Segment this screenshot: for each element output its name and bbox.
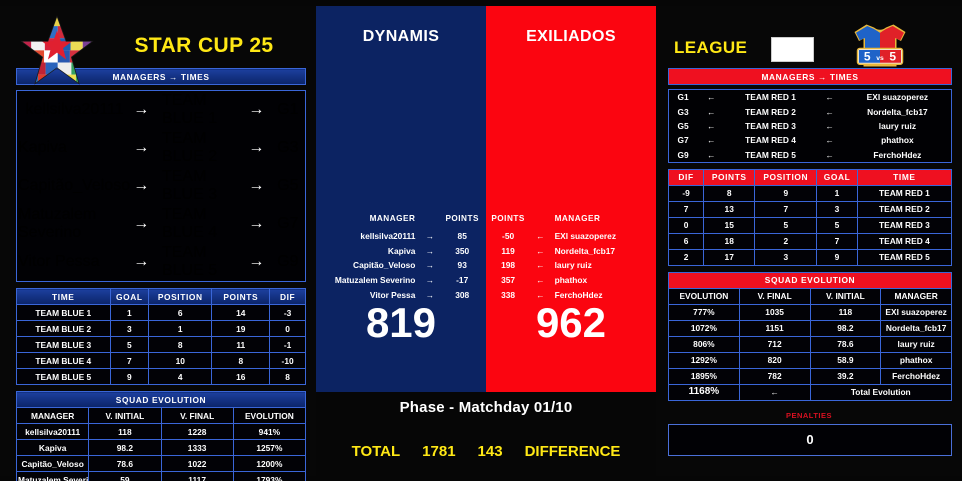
cell-position: 10 bbox=[149, 353, 212, 369]
manager-name: Capitão_Veloso bbox=[316, 258, 421, 273]
arrow-icon: ← bbox=[530, 258, 550, 273]
arrow-icon: → bbox=[132, 243, 161, 281]
table-row[interactable]: TEAM BLUE 4 7 10 8 -10 bbox=[17, 353, 306, 369]
col-v-initial: V. INITIAL bbox=[810, 288, 881, 304]
col-evolution: EVOLUTION bbox=[669, 288, 740, 304]
cell-v-final: 820 bbox=[739, 352, 810, 368]
home-team-name: DYNAMIS bbox=[316, 28, 486, 46]
arrow-icon: ← bbox=[816, 104, 844, 118]
col-time: TIME bbox=[857, 169, 951, 185]
arrow-icon: ← bbox=[816, 148, 844, 162]
cell-goal: 1 bbox=[110, 305, 149, 321]
cell-time: TEAM BLUE 1 bbox=[17, 305, 111, 321]
right-panel: LEAGUE 5 vs 5 MANAGERS → TIMES bbox=[656, 6, 962, 476]
home-points-list: MANAGER POINTS kellsilva20111 → 85 Kapiv… bbox=[316, 212, 486, 302]
arrow-icon: → bbox=[421, 258, 438, 273]
cell-position: 3 bbox=[755, 249, 817, 265]
total-value: 1781 bbox=[422, 443, 455, 460]
table-row[interactable]: 1292% 820 58.9 phathox bbox=[669, 352, 952, 368]
table-row[interactable]: G1 ← TEAM RED 1 ← EXI suazoperez bbox=[669, 90, 951, 104]
table-header-row: TIME GOAL POSITION POINTS DIF bbox=[17, 289, 306, 305]
cell-position: 2 bbox=[755, 233, 817, 249]
table-row[interactable]: Vitor Pessa → TEAM BLUE 5 → G9 bbox=[17, 243, 305, 281]
home-score: 819 bbox=[316, 302, 486, 344]
cell-evolution: 941% bbox=[233, 424, 305, 440]
arrow-icon: → bbox=[247, 167, 276, 205]
table-row[interactable]: kellsilva20111 118 1228 941% bbox=[17, 424, 306, 440]
cell-evolution: 806% bbox=[669, 336, 740, 352]
points-value: -50 bbox=[486, 228, 530, 243]
arrow-icon: → bbox=[247, 205, 276, 243]
col-points: POINTS bbox=[704, 169, 755, 185]
group-code: G5 bbox=[276, 167, 305, 205]
table-row[interactable]: Capitão_Veloso → TEAM BLUE 3 → G5 bbox=[17, 167, 305, 205]
list-item[interactable]: -50 ← EXI suazoperez bbox=[486, 228, 656, 243]
team-name: TEAM RED 2 bbox=[725, 104, 815, 118]
cell-time: TEAM BLUE 2 bbox=[17, 321, 111, 337]
cell-dif: 0 bbox=[270, 321, 306, 337]
col-points: POINTS bbox=[486, 212, 530, 228]
away-points-list: POINTS MANAGER -50 ← EXI suazoperez 119 … bbox=[486, 212, 656, 302]
points-value: 93 bbox=[438, 258, 486, 273]
cell-evolution: 1072% bbox=[669, 320, 740, 336]
cell-v-initial: 58.9 bbox=[810, 352, 881, 368]
cell-v-initial: 98.2 bbox=[810, 320, 881, 336]
manager-name: Kapiva bbox=[316, 243, 421, 258]
cell-position: 9 bbox=[755, 185, 817, 201]
total-evolution-value: 1168% bbox=[669, 384, 740, 400]
cell-position: 1 bbox=[149, 321, 212, 337]
cell-goal: 5 bbox=[110, 337, 149, 353]
team-name: TEAM BLUE 5 bbox=[161, 243, 247, 281]
table-row[interactable]: Capitão_Veloso 78.6 1022 1200% bbox=[17, 456, 306, 472]
cell-position: 6 bbox=[149, 305, 212, 321]
team-name: TEAM BLUE 2 bbox=[161, 129, 247, 167]
col-goal: GOAL bbox=[817, 169, 857, 185]
cell-time: TEAM RED 4 bbox=[857, 233, 951, 249]
team-name: TEAM BLUE 1 bbox=[161, 91, 247, 129]
cell-v-initial: 118 bbox=[810, 304, 881, 320]
away-score: 962 bbox=[486, 302, 656, 344]
table-row[interactable]: 0 15 5 5 TEAM RED 3 bbox=[669, 217, 952, 233]
right-header: LEAGUE 5 vs 5 bbox=[656, 6, 962, 68]
arrow-icon: ← bbox=[530, 273, 550, 288]
group-code: G7 bbox=[276, 205, 305, 243]
cell-position: 7 bbox=[755, 201, 817, 217]
group-code: G9 bbox=[276, 243, 305, 281]
team-name: TEAM BLUE 4 bbox=[161, 205, 247, 243]
col-v-initial: V. INITIAL bbox=[89, 408, 161, 424]
group-code: G1 bbox=[276, 91, 305, 129]
col-manager: MANAGER bbox=[551, 212, 656, 228]
col-time: TIME bbox=[17, 289, 111, 305]
right-managers-table: G1 ← TEAM RED 1 ← EXI suazoperez G3 ← TE… bbox=[668, 89, 952, 163]
list-item[interactable]: kellsilva20111 → 85 bbox=[316, 228, 486, 243]
table-row[interactable]: G9 ← TEAM RED 5 ← FerchoHdez bbox=[669, 148, 951, 162]
left-standings-table: TIME GOAL POSITION POINTS DIF TEAM BLUE … bbox=[16, 288, 306, 385]
squad-evolution-title: SQUAD EVOLUTION bbox=[669, 272, 952, 288]
group-code: G3 bbox=[669, 104, 697, 118]
manager-name: kellsilva20111 bbox=[316, 228, 421, 243]
list-item[interactable]: Capitão_Veloso → 93 bbox=[316, 258, 486, 273]
table-row[interactable]: Kapiva → TEAM BLUE 2 → G3 bbox=[17, 129, 305, 167]
list-item[interactable]: Kapiva → 350 bbox=[316, 243, 486, 258]
table-row[interactable]: Matuzalem Severino 59 1117 1793% bbox=[17, 472, 306, 481]
cell-v-initial: 118 bbox=[89, 424, 161, 440]
difference-value: 143 bbox=[478, 443, 503, 460]
cell-manager: FerchoHdez bbox=[881, 368, 952, 384]
cell-points: 15 bbox=[704, 217, 755, 233]
table-row[interactable]: G7 ← TEAM RED 4 ← phathox bbox=[669, 133, 951, 147]
cell-v-initial: 78.6 bbox=[89, 456, 161, 472]
table-row[interactable]: 2 17 3 9 TEAM RED 5 bbox=[669, 249, 952, 265]
cell-dif: 2 bbox=[669, 249, 704, 265]
cell-points: 19 bbox=[212, 321, 270, 337]
points-value: 338 bbox=[486, 288, 530, 303]
table-row[interactable]: G5 ← TEAM RED 3 ← laury ruiz bbox=[669, 119, 951, 133]
arrow-icon: → bbox=[247, 243, 276, 281]
table-header-row: MANAGER POINTS bbox=[316, 212, 486, 228]
team-name: TEAM RED 4 bbox=[725, 133, 815, 147]
scoreboard-screen: STAR CUP 25 MANAGERS → TIMES kellsilva20… bbox=[0, 0, 962, 481]
cell-manager: phathox bbox=[881, 352, 952, 368]
cell-goal: 1 bbox=[817, 185, 857, 201]
cell-v-final: 1333 bbox=[161, 440, 233, 456]
cell-v-initial: 59 bbox=[89, 472, 161, 481]
table-row[interactable]: TEAM BLUE 1 1 6 14 -3 bbox=[17, 305, 306, 321]
col-v-final: V. FINAL bbox=[739, 288, 810, 304]
manager-name: phathox bbox=[844, 133, 951, 147]
star-flags-logo-icon bbox=[18, 14, 96, 86]
cell-manager: Kapiva bbox=[17, 440, 89, 456]
arrow-icon: → bbox=[132, 129, 161, 167]
group-code: G3 bbox=[276, 129, 305, 167]
manager-name: Matuzalem Severino bbox=[17, 205, 132, 243]
table-row[interactable]: 777% 1035 118 EXI suazoperez bbox=[669, 304, 952, 320]
col-position: POSITION bbox=[755, 169, 817, 185]
cell-dif: -1 bbox=[270, 337, 306, 353]
arrow-icon: → bbox=[421, 228, 438, 243]
manager-name: laury ruiz bbox=[551, 258, 656, 273]
cell-evolution: 777% bbox=[669, 304, 740, 320]
team-name: TEAM BLUE 3 bbox=[161, 167, 247, 205]
cell-dif: 8 bbox=[270, 369, 306, 385]
cell-v-final: 1035 bbox=[739, 304, 810, 320]
arrow-icon: ← bbox=[530, 243, 550, 258]
cell-position: 4 bbox=[149, 369, 212, 385]
col-dif: DIF bbox=[669, 169, 704, 185]
cell-points: 8 bbox=[704, 185, 755, 201]
cell-evolution: 1793% bbox=[233, 472, 305, 481]
table-header-row: EVOLUTION V. FINAL V. INITIAL MANAGER bbox=[669, 288, 952, 304]
col-manager: MANAGER bbox=[881, 288, 952, 304]
table-total-row: 1168% ← Total Evolution bbox=[669, 384, 952, 400]
star-cup-title: STAR CUP 25 bbox=[106, 34, 302, 58]
group-code: G5 bbox=[669, 119, 697, 133]
arrow-icon: → bbox=[132, 91, 161, 129]
col-points: POINTS bbox=[438, 212, 486, 228]
cell-time: TEAM RED 3 bbox=[857, 217, 951, 233]
cell-manager: Nordelta_fcb17 bbox=[881, 320, 952, 336]
arrow-icon: ← bbox=[697, 90, 725, 104]
difference-label: DIFFERENCE bbox=[525, 443, 621, 460]
list-item[interactable]: Matuzalem Severino → -17 bbox=[316, 273, 486, 288]
jersey-5vs5-logo-icon: 5 vs 5 bbox=[842, 20, 918, 74]
cell-position: 8 bbox=[149, 337, 212, 353]
list-item[interactable]: 357 ← phathox bbox=[486, 273, 656, 288]
table-row[interactable]: TEAM BLUE 5 9 4 16 8 bbox=[17, 369, 306, 385]
cell-points: 16 bbox=[212, 369, 270, 385]
table-header-row: DIF POINTS POSITION GOAL TIME bbox=[669, 169, 952, 185]
cell-goal: 7 bbox=[110, 353, 149, 369]
cell-v-final: 1228 bbox=[161, 424, 233, 440]
cell-v-final: 1022 bbox=[161, 456, 233, 472]
cell-v-initial: 98.2 bbox=[89, 440, 161, 456]
table-row[interactable]: Matuzalem Severino → TEAM BLUE 4 → G7 bbox=[17, 205, 305, 243]
points-value: 350 bbox=[438, 243, 486, 258]
arrow-icon: → bbox=[421, 273, 438, 288]
cell-manager: Matuzalem Severino bbox=[17, 472, 89, 481]
manager-name: kellsilva20111 bbox=[17, 91, 132, 129]
left-header: STAR CUP 25 bbox=[0, 6, 316, 68]
cell-points: 14 bbox=[212, 305, 270, 321]
table-header-row: MANAGER V. INITIAL V. FINAL EVOLUTION bbox=[17, 408, 306, 424]
cell-time: TEAM RED 1 bbox=[857, 185, 951, 201]
phase-matchday-label: Phase - Matchday 01/10 bbox=[316, 399, 656, 416]
table-header-row: POINTS MANAGER bbox=[486, 212, 656, 228]
arrow-icon: ← bbox=[697, 133, 725, 147]
manager-name: FerchoHdez bbox=[844, 148, 951, 162]
svg-text:vs: vs bbox=[876, 55, 884, 62]
left-managers-table: kellsilva20111 → TEAM BLUE 1 → G1 Kapiva… bbox=[16, 90, 306, 282]
totals-row: TOTAL 1781 143 DIFFERENCE bbox=[316, 443, 656, 460]
cell-dif: 6 bbox=[669, 233, 704, 249]
cell-manager: kellsilva20111 bbox=[17, 424, 89, 440]
left-squad-evolution-table: SQUAD EVOLUTION MANAGER V. INITIAL V. FI… bbox=[16, 391, 306, 481]
points-value: 85 bbox=[438, 228, 486, 243]
away-team-name: EXILIADOS bbox=[486, 28, 656, 46]
manager-name: phathox bbox=[551, 273, 656, 288]
list-item[interactable]: 119 ← Nordelta_fcb17 bbox=[486, 243, 656, 258]
arrow-icon: ← bbox=[816, 90, 844, 104]
arrow-icon: ← bbox=[816, 133, 844, 147]
home-team-panel: DYNAMIS MANAGER POINTS kellsilva20111 → … bbox=[316, 6, 486, 392]
cell-dif: -10 bbox=[270, 353, 306, 369]
cell-points: 13 bbox=[704, 201, 755, 217]
group-code: G1 bbox=[669, 90, 697, 104]
right-penalties-value[interactable]: 0 bbox=[668, 424, 952, 456]
league-input[interactable] bbox=[771, 37, 814, 62]
arrow-icon: ← bbox=[530, 228, 550, 243]
col-evolution: EVOLUTION bbox=[233, 408, 305, 424]
league-title: LEAGUE bbox=[674, 38, 747, 58]
total-label: TOTAL bbox=[352, 443, 401, 460]
cell-v-final: 782 bbox=[739, 368, 810, 384]
cell-v-final: 1151 bbox=[739, 320, 810, 336]
cell-goal: 9 bbox=[817, 249, 857, 265]
cell-position: 5 bbox=[755, 217, 817, 233]
svg-text:5: 5 bbox=[889, 50, 896, 64]
col-v-final: V. FINAL bbox=[161, 408, 233, 424]
manager-name: EXI suazoperez bbox=[844, 90, 951, 104]
cell-goal: 9 bbox=[110, 369, 149, 385]
team-name: TEAM RED 1 bbox=[725, 90, 815, 104]
table-row[interactable]: Kapiva 98.2 1333 1257% bbox=[17, 440, 306, 456]
manager-name: laury ruiz bbox=[844, 119, 951, 133]
cell-points: 8 bbox=[212, 353, 270, 369]
cell-manager: laury ruiz bbox=[881, 336, 952, 352]
cell-goal: 5 bbox=[817, 217, 857, 233]
right-squad-evolution-table: SQUAD EVOLUTION EVOLUTION V. FINAL V. IN… bbox=[668, 272, 952, 401]
right-standings-table: DIF POINTS POSITION GOAL TIME -9 8 9 1 T… bbox=[668, 169, 952, 266]
table-row[interactable]: -9 8 9 1 TEAM RED 1 bbox=[669, 185, 952, 201]
cell-v-final: 712 bbox=[739, 336, 810, 352]
group-code: G9 bbox=[669, 148, 697, 162]
points-value: 357 bbox=[486, 273, 530, 288]
squad-evolution-title: SQUAD EVOLUTION bbox=[17, 392, 306, 408]
col-dif: DIF bbox=[270, 289, 306, 305]
col-goal: GOAL bbox=[110, 289, 149, 305]
team-name: TEAM RED 3 bbox=[725, 119, 815, 133]
manager-name: EXI suazoperez bbox=[551, 228, 656, 243]
left-panel: STAR CUP 25 MANAGERS → TIMES kellsilva20… bbox=[0, 6, 316, 476]
table-row[interactable]: 806% 712 78.6 laury ruiz bbox=[669, 336, 952, 352]
arrow-icon: → bbox=[421, 243, 438, 258]
table-row[interactable]: 7 13 7 3 TEAM RED 2 bbox=[669, 201, 952, 217]
away-team-panel: EXILIADOS POINTS MANAGER -50 ← EXI suazo… bbox=[486, 6, 656, 392]
table-row[interactable]: 6 18 2 7 TEAM RED 4 bbox=[669, 233, 952, 249]
table-row[interactable]: kellsilva20111 → TEAM BLUE 1 → G1 bbox=[17, 91, 305, 129]
group-code: G7 bbox=[669, 133, 697, 147]
arrow-icon: → bbox=[132, 205, 161, 243]
manager-name: Capitão_Veloso bbox=[17, 167, 132, 205]
list-item[interactable]: 198 ← laury ruiz bbox=[486, 258, 656, 273]
cell-evolution: 1200% bbox=[233, 456, 305, 472]
cell-goal: 3 bbox=[110, 321, 149, 337]
col-manager: MANAGER bbox=[316, 212, 421, 228]
cell-v-initial: 39.2 bbox=[810, 368, 881, 384]
arrow-icon: ← bbox=[697, 104, 725, 118]
cell-manager: Capitão_Veloso bbox=[17, 456, 89, 472]
cell-points: 11 bbox=[212, 337, 270, 353]
cell-time: TEAM BLUE 3 bbox=[17, 337, 111, 353]
cell-dif: -9 bbox=[669, 185, 704, 201]
col-points: POINTS bbox=[212, 289, 270, 305]
cell-v-final: 1117 bbox=[161, 472, 233, 481]
arrow-icon: → bbox=[247, 129, 276, 167]
cell-time: TEAM RED 5 bbox=[857, 249, 951, 265]
cell-evolution: 1895% bbox=[669, 368, 740, 384]
points-value: 308 bbox=[438, 288, 486, 303]
arrow-icon: ← bbox=[739, 384, 810, 400]
table-row[interactable]: 1895% 782 39.2 FerchoHdez bbox=[669, 368, 952, 384]
manager-name: Vitor Pessa bbox=[17, 243, 132, 281]
table-row[interactable]: 1072% 1151 98.2 Nordelta_fcb17 bbox=[669, 320, 952, 336]
cell-manager: EXI suazoperez bbox=[881, 304, 952, 320]
table-row[interactable]: TEAM BLUE 2 3 1 19 0 bbox=[17, 321, 306, 337]
arrow-icon: → bbox=[132, 167, 161, 205]
svg-text:5: 5 bbox=[864, 50, 871, 64]
arrow-icon: → bbox=[247, 91, 276, 129]
cell-time: TEAM BLUE 5 bbox=[17, 369, 111, 385]
cell-time: TEAM RED 2 bbox=[857, 201, 951, 217]
table-row[interactable]: G3 ← TEAM RED 2 ← Nordelta_fcb17 bbox=[669, 104, 951, 118]
manager-name: Nordelta_fcb17 bbox=[551, 243, 656, 258]
cell-evolution: 1257% bbox=[233, 440, 305, 456]
col-manager: MANAGER bbox=[17, 408, 89, 424]
right-penalties-label: PENALTIES bbox=[656, 411, 962, 420]
total-evolution-label: Total Evolution bbox=[810, 384, 952, 400]
table-row[interactable]: TEAM BLUE 3 5 8 11 -1 bbox=[17, 337, 306, 353]
cell-v-initial: 78.6 bbox=[810, 336, 881, 352]
cell-points: 18 bbox=[704, 233, 755, 249]
points-value: 198 bbox=[486, 258, 530, 273]
arrow-icon: ← bbox=[697, 148, 725, 162]
points-value: -17 bbox=[438, 273, 486, 288]
arrow-icon: ← bbox=[816, 119, 844, 133]
cell-goal: 7 bbox=[817, 233, 857, 249]
manager-name: Matuzalem Severino bbox=[316, 273, 421, 288]
cell-dif: -3 bbox=[270, 305, 306, 321]
cell-dif: 7 bbox=[669, 201, 704, 217]
cell-goal: 3 bbox=[817, 201, 857, 217]
team-name: TEAM RED 5 bbox=[725, 148, 815, 162]
points-value: 119 bbox=[486, 243, 530, 258]
cell-points: 17 bbox=[704, 249, 755, 265]
manager-name: Nordelta_fcb17 bbox=[844, 104, 951, 118]
cell-dif: 0 bbox=[669, 217, 704, 233]
cell-evolution: 1292% bbox=[669, 352, 740, 368]
cell-time: TEAM BLUE 4 bbox=[17, 353, 111, 369]
manager-name: Kapiva bbox=[17, 129, 132, 167]
col-position: POSITION bbox=[149, 289, 212, 305]
arrow-icon: ← bbox=[697, 119, 725, 133]
center-panel: DYNAMIS MANAGER POINTS kellsilva20111 → … bbox=[316, 0, 656, 481]
